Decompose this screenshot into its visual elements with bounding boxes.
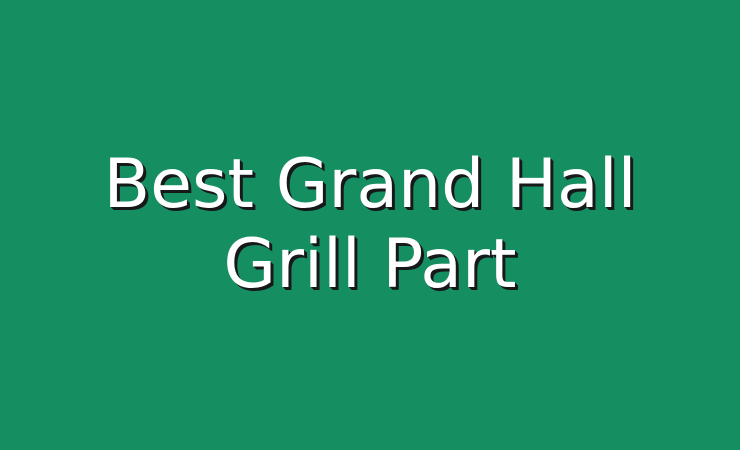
banner-title: Best Grand Hall Grill Part bbox=[0, 145, 740, 305]
placeholder-banner: Best Grand Hall Grill Part bbox=[0, 0, 740, 450]
